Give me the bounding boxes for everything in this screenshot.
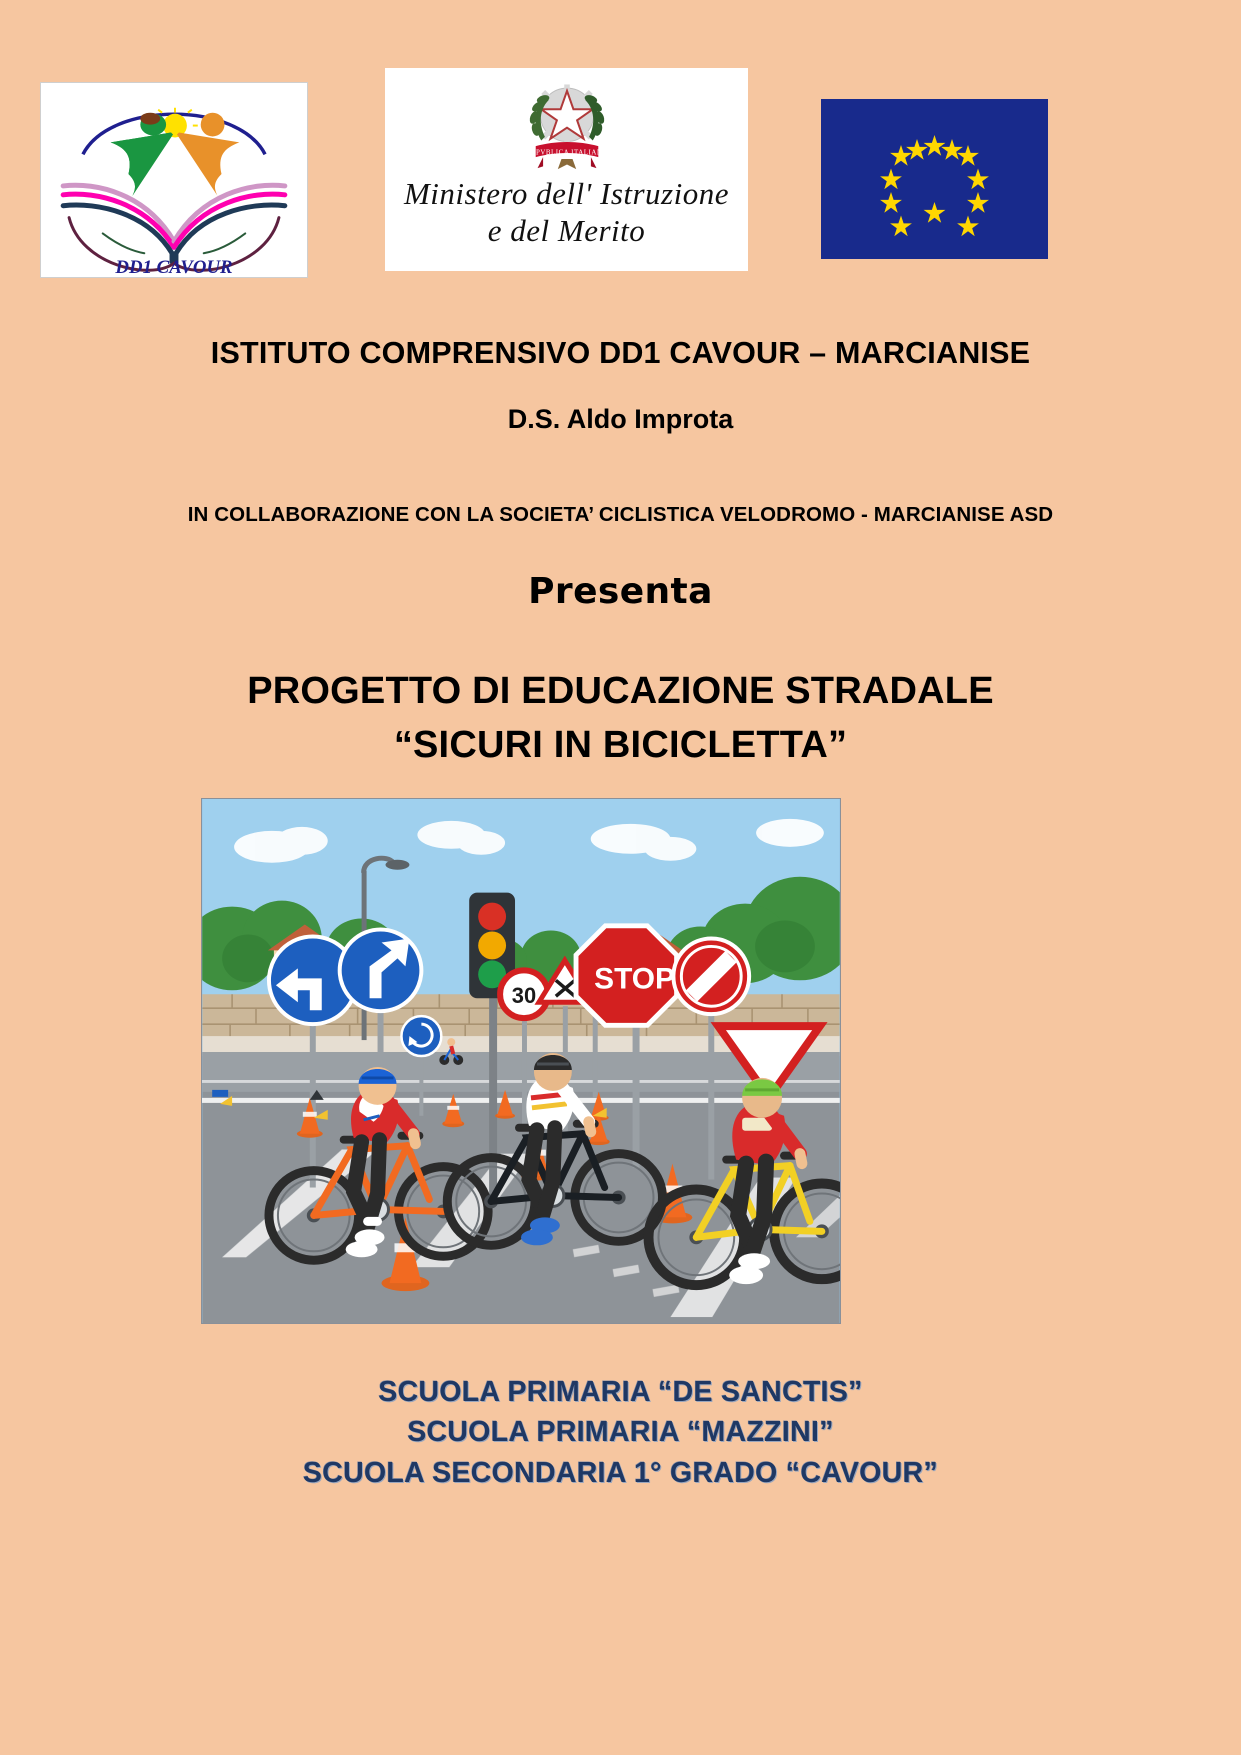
ministry-name-line2: e del Merito (488, 213, 646, 250)
emblem-ribbon-text: REPVBLICA ITALIANA (526, 149, 608, 156)
european-union-flag (821, 99, 1048, 259)
school-logo-caption: DD1 CAVOUR (114, 257, 232, 277)
school-item-3: SCUOLA SECONDARIA 1° GRADO “CAVOUR” (0, 1453, 1241, 1493)
eu-flag-graphic (821, 99, 1048, 259)
collaboration-line: IN COLLABORAZIONE CON LA SOCIETA’ CICLIS… (0, 503, 1241, 527)
speed-limit-value: 30 (512, 983, 536, 1008)
italian-republic-emblem-icon: REPVBLICA ITALIANA (521, 76, 613, 172)
principal-name: D.S. Aldo Improta (0, 404, 1241, 435)
institute-name: ISTITUTO COMPRENSIVO DD1 CAVOUR – MARCIA… (0, 336, 1241, 371)
project-title-line1: PROGETTO DI EDUCAZIONE STRADALE (0, 665, 1241, 719)
school-logo-graphic: DD1 CAVOUR (41, 83, 307, 277)
school-logo-dd1-cavour: DD1 CAVOUR (40, 82, 308, 278)
stop-sign-text: STOP (594, 962, 675, 995)
ministry-logo: REPVBLICA ITALIANA Ministero dell' Istru… (385, 68, 748, 271)
school-item-2: SCUOLA PRIMARIA “MAZZINI” (0, 1412, 1241, 1452)
project-title-line2: “SICURI IN BICICLETTA” (0, 719, 1241, 773)
ministry-name-line1: Ministero dell' Istruzione (404, 176, 729, 213)
logo-strip: DD1 CAVOUR (0, 0, 1241, 300)
school-item-1: SCUOLA PRIMARIA “DE SANCTIS” (0, 1372, 1241, 1412)
road-safety-illustration: 30 STOP (201, 798, 841, 1324)
presents-label: Presenta (0, 571, 1241, 612)
project-title: PROGETTO DI EDUCAZIONE STRADALE “SICURI … (0, 665, 1241, 773)
school-list: SCUOLA PRIMARIA “DE SANCTIS” SCUOLA PRIM… (0, 1372, 1241, 1493)
illustration-graphic: 30 STOP (202, 799, 840, 1323)
